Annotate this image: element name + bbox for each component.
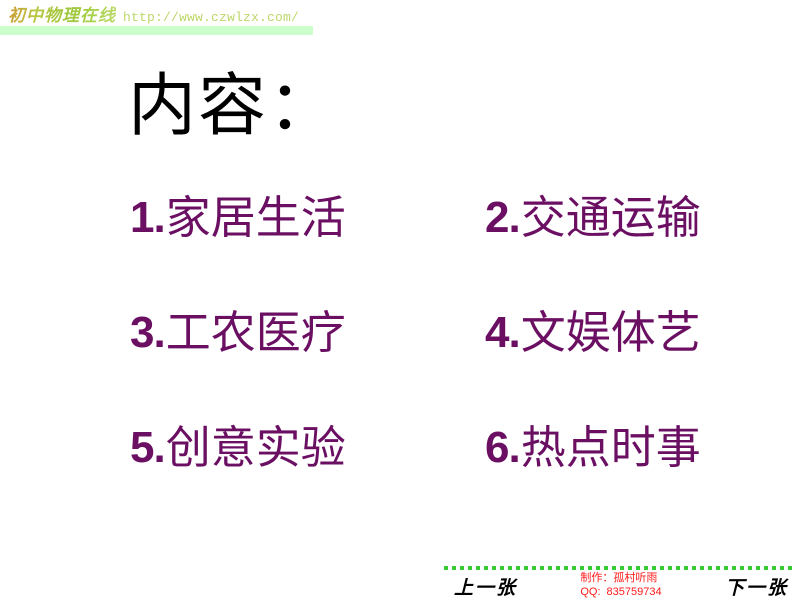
toc-item-4[interactable]: 4. 文娱体艺 xyxy=(485,311,795,426)
toc-item-5[interactable]: 5. 创意实验 xyxy=(130,426,485,541)
toc-item-number: 1. xyxy=(130,196,165,240)
credit-qq-label: QQ: xyxy=(580,586,600,598)
toc-item-number: 4. xyxy=(485,311,520,355)
toc-item-number: 6. xyxy=(485,426,520,470)
toc-item-label: 工农医疗 xyxy=(166,311,346,356)
prev-slide-button[interactable]: 上一张 xyxy=(454,573,517,600)
site-logo-text: 初中物理在线 xyxy=(8,1,116,26)
toc-item-label: 创意实验 xyxy=(166,426,346,471)
toc-item-number: 5. xyxy=(130,426,165,470)
toc-item-number: 2. xyxy=(485,196,520,240)
toc-item-1[interactable]: 1. 家居生活 xyxy=(130,196,485,311)
footer-nav: 上一张 制作：孤村听雨 QQ:835759734 下一张 xyxy=(444,566,796,600)
credit-author-name: 孤村听雨 xyxy=(613,572,657,584)
credit-qq-number: 835759734 xyxy=(607,586,662,598)
toc-item-label: 文娱体艺 xyxy=(521,311,701,356)
site-url-link[interactable]: http://www.czwlzx.com/ xyxy=(123,10,299,25)
toc-item-label: 交通运输 xyxy=(521,196,701,241)
toc-item-label: 热点时事 xyxy=(521,426,701,471)
credit-author-label: 制作： xyxy=(580,572,613,584)
credit-block: 制作：孤村听雨 QQ:835759734 xyxy=(580,572,661,600)
toc-item-6[interactable]: 6. 热点时事 xyxy=(485,426,795,541)
credit-author-line: 制作：孤村听雨 xyxy=(580,572,661,586)
page-title: 内容： xyxy=(128,72,338,140)
site-banner-bar xyxy=(0,26,313,35)
site-banner-row: 初中物理在线 http://www.czwlzx.com/ xyxy=(8,1,299,26)
footer-divider xyxy=(444,566,796,570)
footer-row: 上一张 制作：孤村听雨 QQ:835759734 下一张 xyxy=(444,572,796,600)
toc-item-number: 3. xyxy=(130,311,165,355)
slide-canvas: 初中物理在线 http://www.czwlzx.com/ 内容： 1. 家居生… xyxy=(0,0,800,600)
credit-qq-line: QQ:835759734 xyxy=(580,586,661,600)
toc-grid: 1. 家居生活 2. 交通运输 3. 工农医疗 4. 文娱体艺 5. 创意实验 … xyxy=(130,196,790,541)
toc-item-2[interactable]: 2. 交通运输 xyxy=(485,196,795,311)
next-slide-button[interactable]: 下一张 xyxy=(725,573,788,600)
toc-item-label: 家居生活 xyxy=(166,196,346,241)
toc-item-3[interactable]: 3. 工农医疗 xyxy=(130,311,485,426)
site-banner: 初中物理在线 http://www.czwlzx.com/ xyxy=(0,0,320,36)
